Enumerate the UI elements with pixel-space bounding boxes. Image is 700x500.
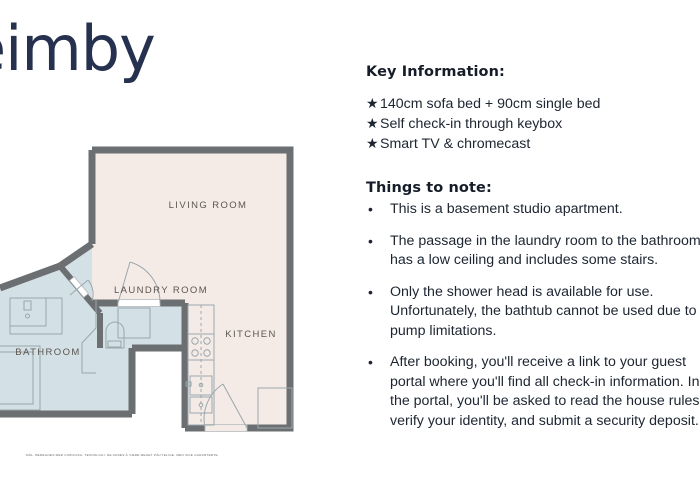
note-line: has a low ceiling and includes some stai…: [390, 251, 700, 271]
note-line: pump limitations.: [390, 322, 700, 342]
bullet-icon: •: [368, 283, 373, 303]
key-information-item: ★Self check-in through keybox: [366, 114, 700, 134]
info-panel: Key Information: ★140cm sofa bed + 90cm …: [366, 64, 700, 443]
slide-root: eimby: [0, 0, 700, 500]
note-line: Only the shower head is available for us…: [390, 283, 700, 303]
note-item: • This is a basement studio apartment.: [366, 200, 700, 220]
note-item: • The passage in the laundry room to the…: [366, 232, 700, 271]
note-line: This is a basement studio apartment.: [390, 200, 700, 220]
things-to-note-list: • This is a basement studio apartment. •…: [366, 200, 700, 431]
floorplan-drawing: LIVING ROOM LAUNDRY ROOM BATHROOM KITCHE…: [0, 138, 330, 478]
bullet-icon: •: [368, 353, 373, 373]
brand-logo: eimby: [0, 18, 155, 80]
note-item: • After booking, you'll receive a link t…: [366, 353, 700, 431]
room-label-kitchen: KITCHEN: [225, 329, 277, 340]
note-line: Unfortunately, the bathtub cannot be use…: [390, 302, 700, 322]
key-information-list: ★140cm sofa bed + 90cm single bed ★Self …: [366, 94, 700, 154]
note-line: verify your identity, and submit a secur…: [390, 412, 700, 432]
things-to-note-heading: Things to note:: [366, 180, 700, 196]
bullet-icon: •: [368, 200, 373, 220]
key-information-item-label: Self check-in through keybox: [380, 116, 562, 132]
note-item-text: The passage in the laundry room to the b…: [390, 232, 700, 271]
key-information-item-label: 140cm sofa bed + 90cm single bed: [380, 96, 600, 112]
note-line: the portal, you'll be asked to read the …: [390, 392, 700, 412]
key-information-item-label: Smart TV & chromecast: [380, 136, 530, 152]
room-label-living-room: LIVING ROOM: [169, 200, 248, 211]
bullet-icon: •: [368, 232, 373, 252]
floorplan: LIVING ROOM LAUNDRY ROOM BATHROOM KITCHE…: [0, 138, 330, 478]
star-icon: ★: [366, 94, 380, 114]
key-information-item: ★140cm sofa bed + 90cm single bed: [366, 94, 700, 114]
note-line: The passage in the laundry room to the b…: [390, 232, 700, 252]
star-icon: ★: [366, 114, 380, 134]
key-information-heading: Key Information:: [366, 64, 700, 80]
note-item-text: After booking, you'll receive a link to …: [390, 353, 700, 431]
star-icon: ★: [366, 134, 380, 154]
note-item-text: Only the shower head is available for us…: [390, 283, 700, 342]
floorplan-caption: MÅL, BEREGNES MED CUBICASA- TEKNOLOGI. D…: [26, 454, 276, 458]
note-item-text: This is a basement studio apartment.: [390, 200, 700, 220]
room-label-laundry-room: LAUNDRY ROOM: [114, 285, 208, 296]
note-line: portal where you'll find all check-in in…: [390, 373, 700, 393]
key-information-item: ★Smart TV & chromecast: [366, 134, 700, 154]
note-line: After booking, you'll receive a link to …: [390, 353, 700, 373]
note-item: • Only the shower head is available for …: [366, 283, 700, 342]
room-label-bathroom: BATHROOM: [15, 347, 80, 358]
